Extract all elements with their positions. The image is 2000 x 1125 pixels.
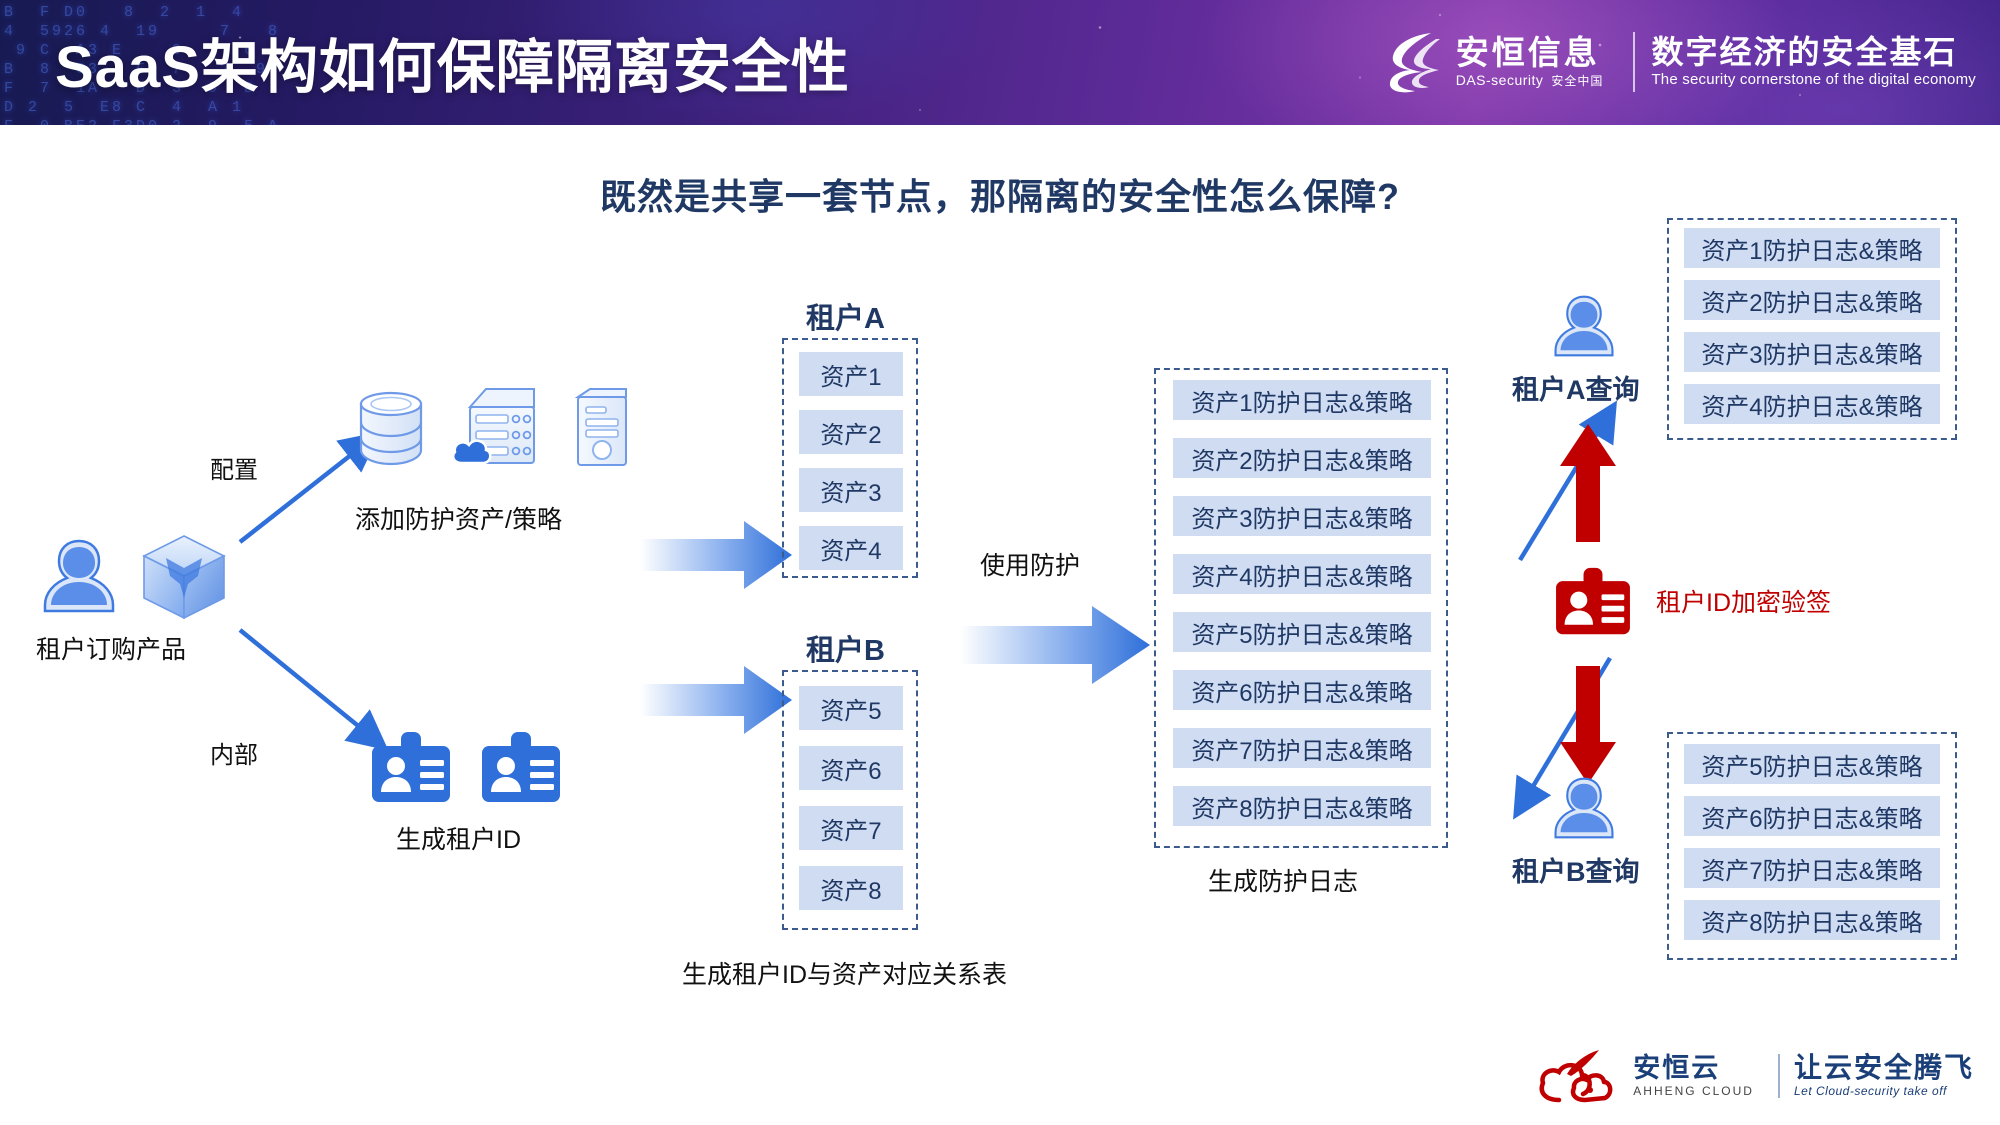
gradient-arrow-use-protection <box>960 600 1160 690</box>
asset-chip: 资产2 <box>799 410 903 454</box>
company-name-en-row: DAS-security 安全中国 <box>1456 71 1604 90</box>
asset-chip: 资产4 <box>799 526 903 570</box>
logo-divider <box>1633 32 1635 92</box>
protection-log-box: 资产1防护日志&策略 资产2防护日志&策略 资产3防护日志&策略 资产4防护日志… <box>1154 368 1448 848</box>
result-chip: 资产2防护日志&策略 <box>1684 280 1940 320</box>
log-chip: 资产5防护日志&策略 <box>1173 612 1431 652</box>
footer-slogan-en: Let Cloud-security take off <box>1794 1083 1974 1099</box>
tenant-a-box: 资产1 资产2 资产3 资产4 <box>782 338 918 578</box>
company-slogan-block: 数字经济的安全基石 The security cornerstone of th… <box>1651 34 1976 90</box>
red-up-arrow <box>1560 424 1620 544</box>
log-chip: 资产6防护日志&策略 <box>1173 670 1431 710</box>
asset-chip: 资产3 <box>799 468 903 512</box>
red-down-arrow <box>1560 666 1620 786</box>
result-chip: 资产1防护日志&策略 <box>1684 228 1940 268</box>
id-badge-icon <box>368 730 454 806</box>
gradient-arrow-to-tenant-a <box>640 515 800 595</box>
branch-internal-label: 内部 <box>210 735 258 770</box>
footer-brand-en: AHHENG CLOUD <box>1633 1083 1754 1099</box>
user-icon <box>1548 772 1620 844</box>
result-chip: 资产7防护日志&策略 <box>1684 848 1940 888</box>
result-chip: 资产3防护日志&策略 <box>1684 332 1940 372</box>
log-chip: 资产2防护日志&策略 <box>1173 438 1431 478</box>
user-icon <box>1548 290 1620 362</box>
log-chip: 资产4防护日志&策略 <box>1173 554 1431 594</box>
use-protection-label: 使用防护 <box>980 546 1080 582</box>
red-id-badge-icon <box>1552 566 1634 638</box>
result-chip: 资产5防护日志&策略 <box>1684 744 1940 784</box>
slide-canvas: B F D0 8 2 1 4 4 5926 4 19 7 8 9 C A3 E … <box>0 0 2000 1125</box>
slide-header: B F D0 8 2 1 4 4 5926 4 19 7 8 9 C A3 E … <box>0 0 2000 125</box>
company-logo: 安恒信息 DAS-security 安全中国 数字经济的安全基石 The sec… <box>1384 24 1976 100</box>
protection-log-caption: 生成防护日志 <box>1208 862 1358 898</box>
footer-brand-block: 安恒云 AHHENG CLOUD <box>1633 1054 1754 1099</box>
gradient-arrow-to-tenant-b <box>640 660 800 740</box>
result-chip: 资产6防护日志&策略 <box>1684 796 1940 836</box>
log-chip: 资产7防护日志&策略 <box>1173 728 1431 768</box>
asset-chip: 资产5 <box>799 686 903 730</box>
log-chip: 资产8防护日志&策略 <box>1173 786 1431 826</box>
log-chip: 资产3防护日志&策略 <box>1173 496 1431 536</box>
footer-brand-cn: 安恒云 <box>1633 1054 1754 1083</box>
company-name-block: 安恒信息 DAS-security 安全中国 <box>1456 35 1604 90</box>
generate-tenant-id-label: 生成租户ID <box>396 820 521 856</box>
tower-server-icon <box>570 385 634 471</box>
tenant-b-results-box: 资产5防护日志&策略 资产6防护日志&策略 资产7防护日志&策略 资产8防护日志… <box>1667 732 1957 960</box>
company-slogan-cn: 数字经济的安全基石 <box>1651 34 1976 70</box>
page-title: SaaS架构如何保障隔离安全性 <box>55 20 850 104</box>
tenant-b-title: 租户B <box>806 627 885 669</box>
company-name-cn: 安恒信息 <box>1456 35 1604 71</box>
company-tag-cn: 安全中国 <box>1551 72 1603 90</box>
result-chip: 资产4防护日志&策略 <box>1684 384 1940 424</box>
company-name-en: DAS-security <box>1456 71 1544 89</box>
result-chip: 资产8防护日志&策略 <box>1684 900 1940 940</box>
footer-slogan-cn: 让云安全腾飞 <box>1794 1053 1974 1083</box>
tenant-a-results-box: 资产1防护日志&策略 资产2防护日志&策略 资产3防护日志&策略 资产4防护日志… <box>1667 218 1957 440</box>
footer-slogan-block: 让云安全腾飞 Let Cloud-security take off <box>1794 1053 1974 1099</box>
id-badge-icon <box>478 730 564 806</box>
add-assets-label: 添加防护资产/策略 <box>355 500 562 536</box>
footer-logo: 安恒云 AHHENG CLOUD 让云安全腾飞 Let Cloud-securi… <box>1537 1045 1974 1107</box>
branch-config-label: 配置 <box>210 450 258 485</box>
slide-subtitle: 既然是共享一套节点，那隔离的安全性怎么保障? <box>0 168 2000 220</box>
asset-chip: 资产7 <box>799 806 903 850</box>
encrypt-sign-label: 租户ID加密验签 <box>1656 583 1831 619</box>
company-slogan-en: The security cornerstone of the digital … <box>1651 70 1976 90</box>
asset-chip: 资产6 <box>799 746 903 790</box>
asset-chip: 资产1 <box>799 352 903 396</box>
tenant-a-query-label: 租户A查询 <box>1512 368 1640 407</box>
footer-logo-divider <box>1778 1054 1780 1098</box>
tenant-b-box: 资产5 资产6 资产7 资产8 <box>782 670 918 930</box>
cube-package-icon <box>136 528 232 624</box>
database-icon <box>355 388 427 468</box>
mapping-table-caption: 生成租户ID与资产对应关系表 <box>682 955 1007 991</box>
tenant-order-label: 租户订购产品 <box>36 630 186 666</box>
user-icon <box>36 533 122 619</box>
tenant-b-query-label: 租户B查询 <box>1512 850 1640 889</box>
tenant-a-title: 租户A <box>806 295 885 337</box>
asset-chip: 资产8 <box>799 866 903 910</box>
das-security-swoosh-icon <box>1384 29 1446 95</box>
ahheng-cloud-icon <box>1537 1048 1625 1104</box>
log-chip: 资产1防护日志&策略 <box>1173 380 1431 420</box>
cloud-server-rack-icon <box>450 385 550 471</box>
